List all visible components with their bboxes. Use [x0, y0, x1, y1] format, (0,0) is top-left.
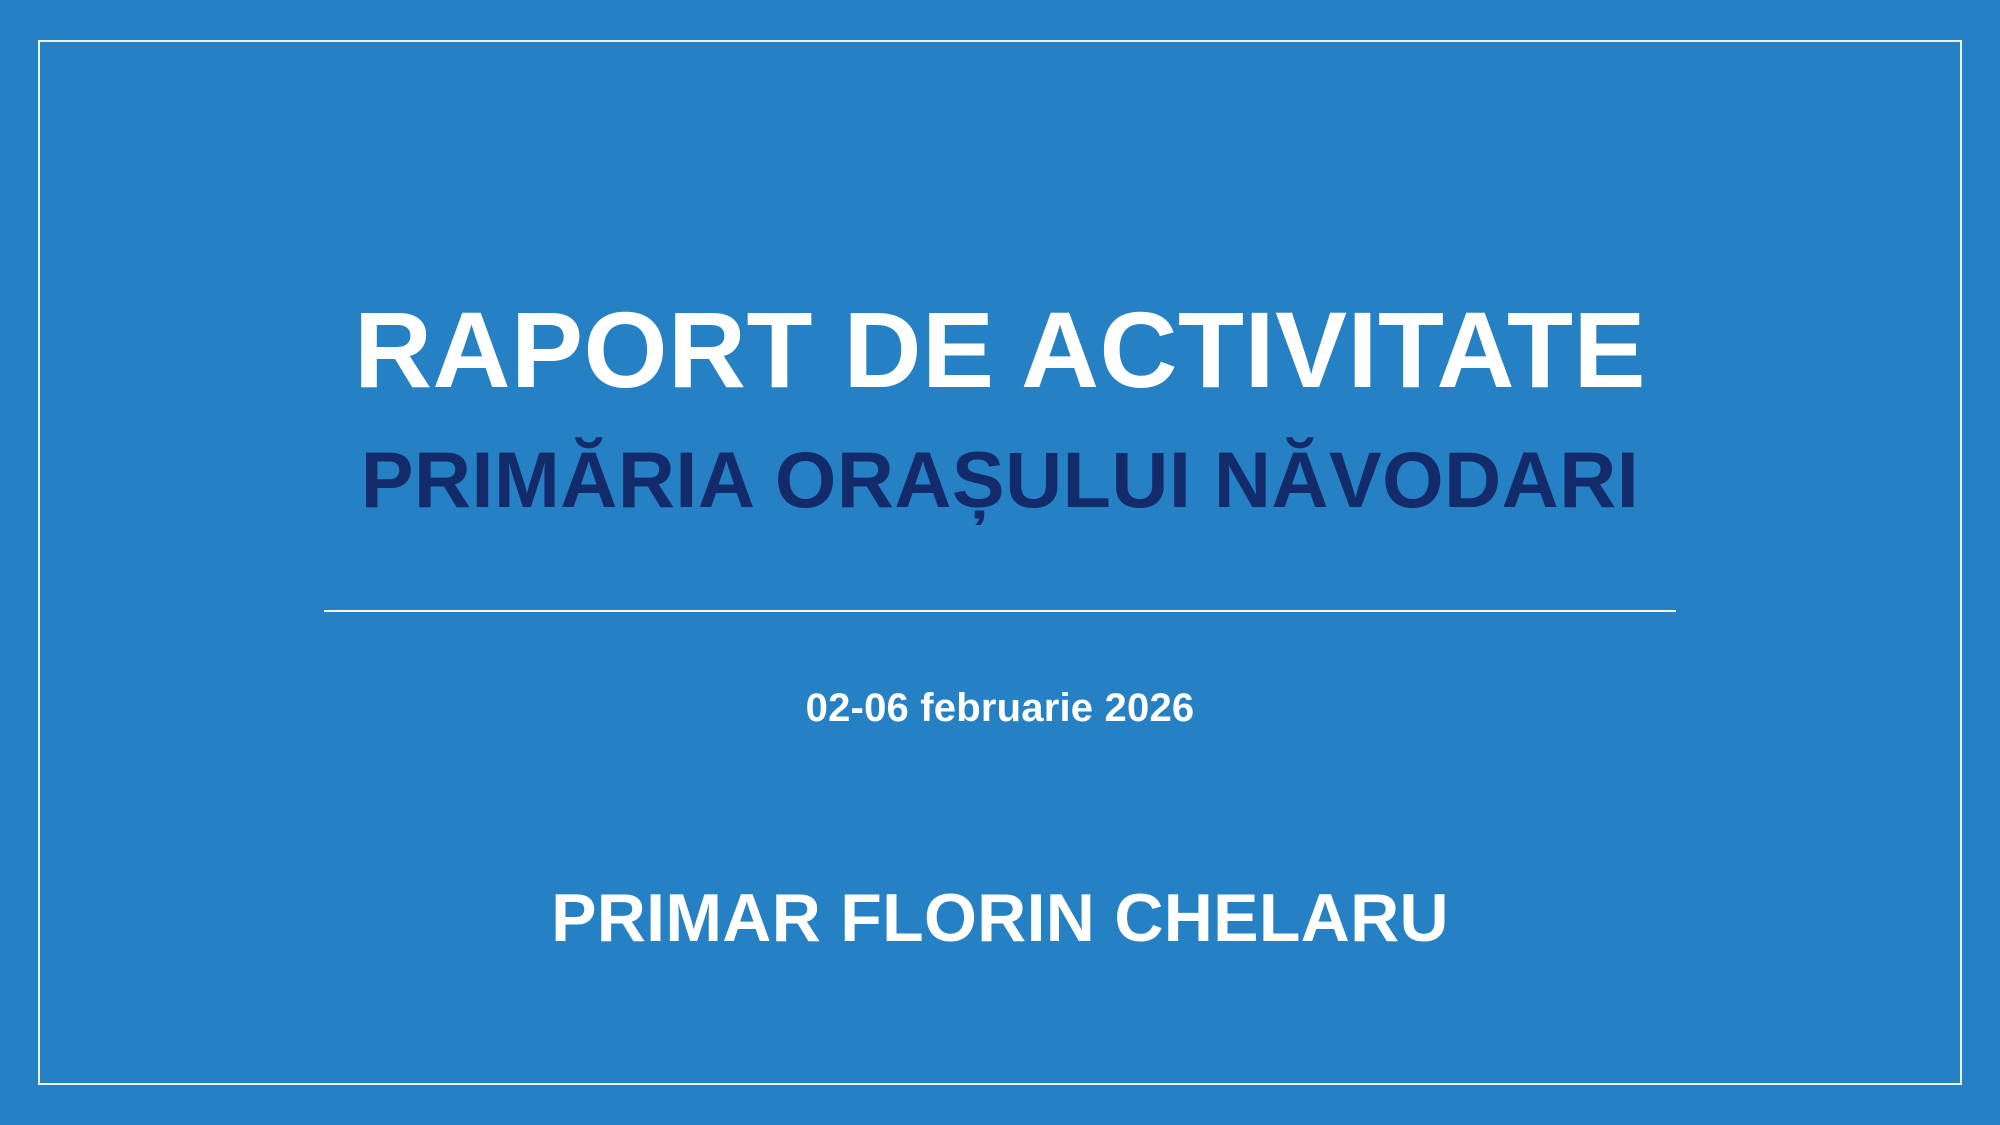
title-divider [324, 610, 1676, 612]
slide-presenter-name: PRIMAR FLORIN CHELARU [0, 884, 2000, 952]
slide-content: RAPORT DE ACTIVITATE PRIMĂRIA ORAȘULUI N… [0, 0, 2000, 1125]
title-slide: RAPORT DE ACTIVITATE PRIMĂRIA ORAȘULUI N… [0, 0, 2000, 1125]
slide-date-range: 02-06 februarie 2026 [0, 688, 2000, 728]
slide-title: RAPORT DE ACTIVITATE [0, 296, 2000, 404]
slide-subtitle: PRIMĂRIA ORAȘULUI NĂVODARI [0, 440, 2000, 519]
